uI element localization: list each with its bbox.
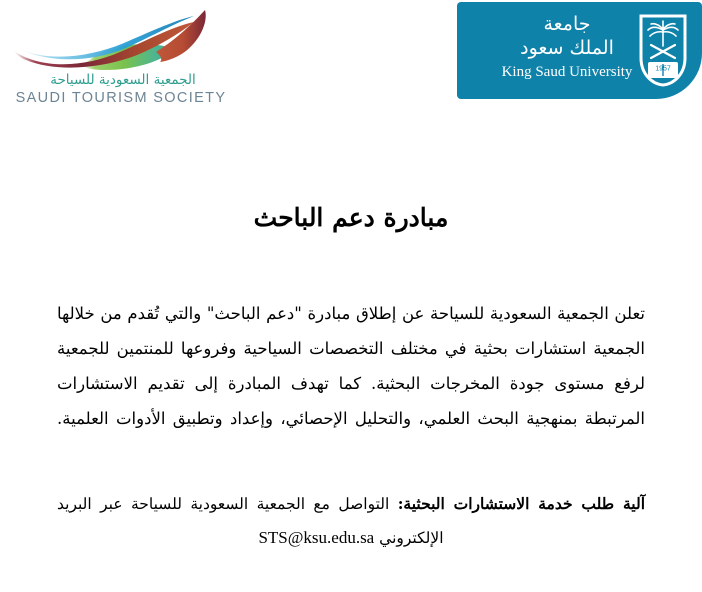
ksu-shield-emblem-icon: 1957 [638,12,688,88]
page-title: مبادرة دعم الباحث [0,203,702,232]
king-saud-university-logo: جامعة الملك سعود King Saud University [457,2,702,99]
saudi-tourism-society-logo: الجمعية السعودية للسياحة SAUDI TOURISM S… [8,4,236,109]
initiative-paragraph: تعلن الجمعية السعودية للسياحة عن إطلاق م… [57,296,645,436]
sts-logo-latin-text: SAUDI TOURISM SOCIETY [10,90,232,106]
ksu-arabic-line-2: الملك سعود [492,37,642,61]
sts-logo-arabic-text: الجمعية السعودية للسياحة [14,72,232,88]
contact-text: التواصل مع الجمعية السعودية للسياحة عبر … [57,495,444,547]
ksu-arabic-line-1: جامعة [492,13,642,37]
ksu-text-block: جامعة الملك سعود King Saud University [492,13,642,81]
contact-block: آلية طلب خدمة الاستشارات البحثية: التواص… [57,487,645,555]
sts-swoosh-icon [8,4,236,76]
ksu-emblem-year: 1957 [655,66,671,73]
contact-label: آلية طلب خدمة الاستشارات البحثية: [398,494,645,513]
contact-email[interactable]: STS@ksu.edu.sa [258,528,374,547]
ksu-english-name: King Saud University [492,64,642,81]
header: الجمعية السعودية للسياحة SAUDI TOURISM S… [0,0,702,115]
main-content: تعلن الجمعية السعودية للسياحة عن إطلاق م… [57,296,645,436]
